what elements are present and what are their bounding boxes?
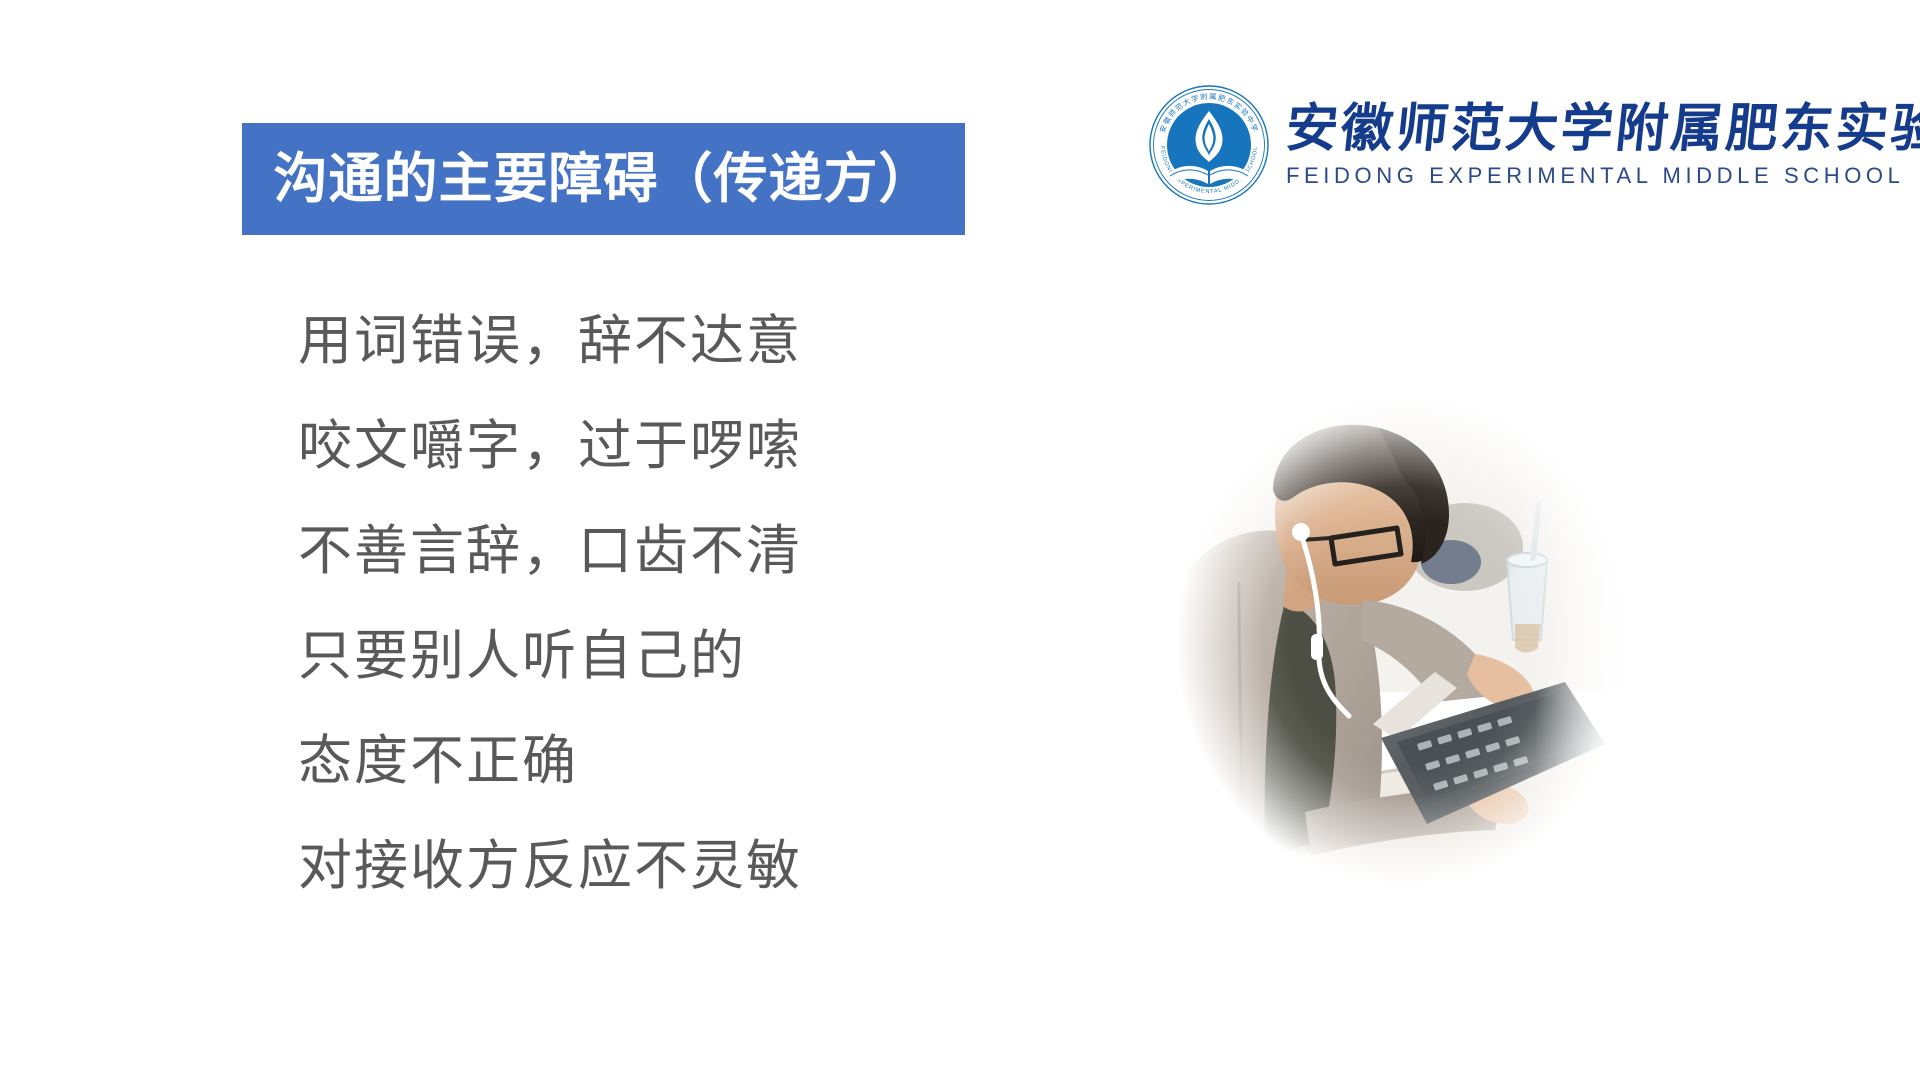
body-line-4: 只要别人听自己的 — [298, 603, 802, 708]
body-line-5: 态度不正确 — [298, 708, 802, 813]
presentation-slide: 沟通的主要障碍（传递方） 用词错误，辞不达意 咬文嚼字，过于啰嗦 不善言辞，口齿… — [0, 0, 1920, 1080]
body-line-1: 用词错误，辞不达意 — [298, 288, 802, 393]
school-logo: 安徽师范大学附属肥东实验中学 FEIDONG EXPERIMENTAL MIDD… — [1148, 84, 1920, 206]
body-line-2: 咬文嚼字，过于啰嗦 — [298, 393, 802, 498]
body-line-3: 不善言辞，口齿不清 — [298, 498, 802, 603]
school-name-chinese: 安徽师范大学附属肥东实验中学 — [1283, 101, 1920, 157]
body-line-6: 对接收方反应不灵敏 — [298, 813, 802, 918]
school-name-english: FEIDONG EXPERIMENTAL MIDDLE SCHOOL — [1286, 163, 1904, 189]
school-crest-icon: 安徽师范大学附属肥东实验中学 FEIDONG EXPERIMENTAL MIDD… — [1148, 84, 1270, 206]
body-text-block: 用词错误，辞不达意 咬文嚼字，过于啰嗦 不善言辞，口齿不清 只要别人听自己的 态… — [298, 288, 802, 918]
student-typing-photo — [1135, 372, 1655, 932]
page-title: 沟通的主要障碍（传递方） — [274, 152, 934, 206]
title-banner: 沟通的主要障碍（传递方） — [242, 123, 965, 235]
school-logo-text: 安徽师范大学附属肥东实验中学 FEIDONG EXPERIMENTAL MIDD… — [1286, 101, 1920, 189]
